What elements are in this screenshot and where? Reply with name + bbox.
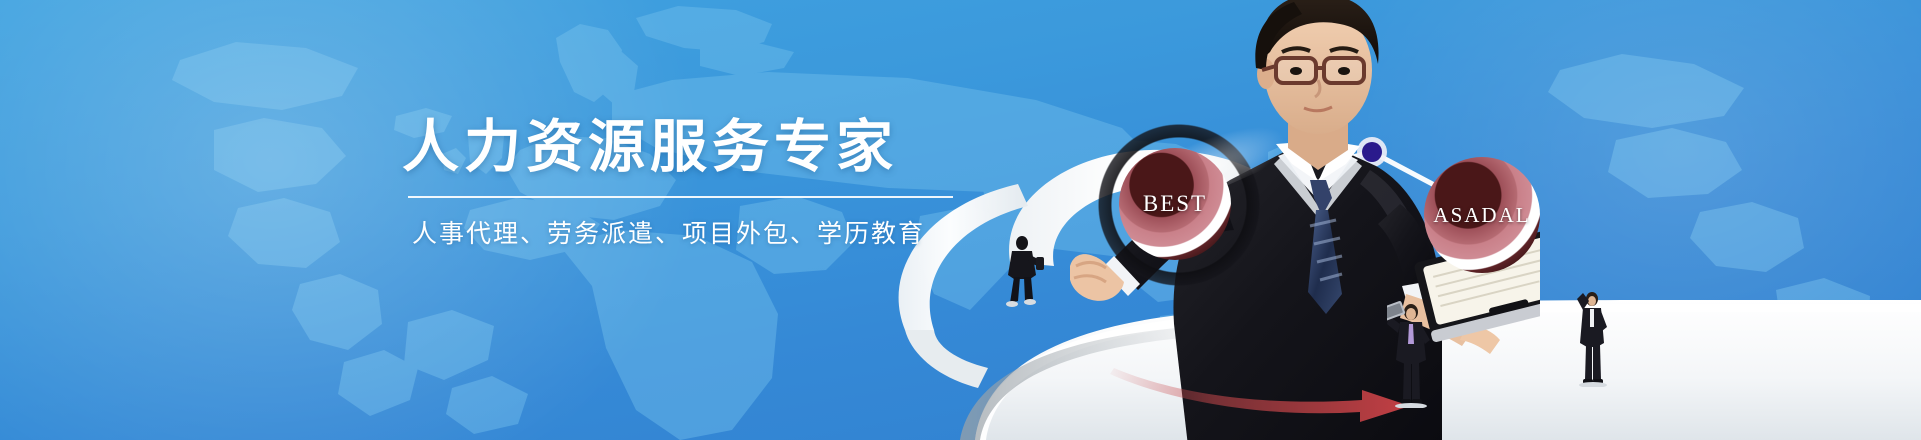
badge-asadal-label: ASADAL <box>1433 203 1530 228</box>
badge-best-label: BEST <box>1143 191 1207 217</box>
badge-best: BEST <box>1119 148 1231 260</box>
mini-figure-looking-ahead <box>1573 287 1611 387</box>
hero-banner: BEST ASADAL <box>0 0 1921 440</box>
mini-figure-holding-laptop <box>1387 300 1431 408</box>
page-title: 人力资源服务专家 <box>402 118 962 176</box>
red-curved-arrow <box>1110 352 1430 422</box>
badge-asadal: ASADAL <box>1424 157 1540 273</box>
banner-copy-block: 人力资源服务专家 人事代理、劳务派遣、项目外包、学历教育 <box>402 118 962 250</box>
title-divider <box>408 196 953 198</box>
page-subtitle: 人事代理、劳务派遣、项目外包、学历教育 <box>412 214 962 250</box>
mini-figure-walker-with-briefcase <box>1000 235 1044 307</box>
